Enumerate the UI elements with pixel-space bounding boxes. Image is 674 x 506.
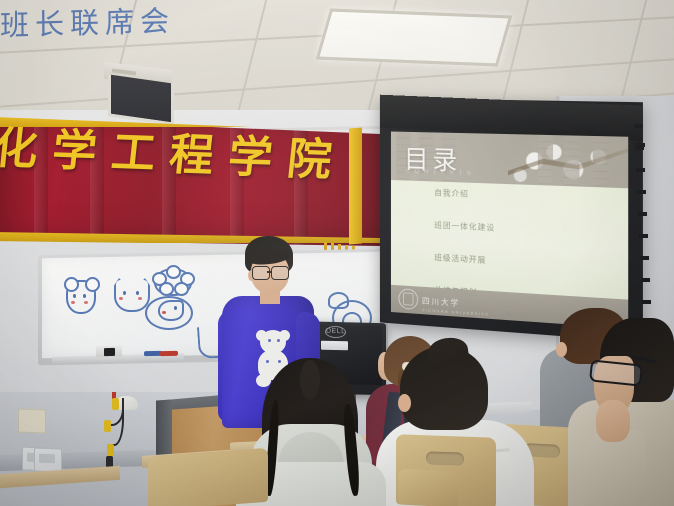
flower-doodle [154,268,192,296]
banner-char: 学 [226,120,279,185]
eraser-pad [104,348,115,356]
chair-handle-slot [426,451,464,465]
wall-outlet-right[interactable] [34,448,62,473]
banner-right-trim [349,128,362,245]
cable-connector [112,398,119,410]
presenter-glasses-left-lens [252,266,270,280]
screen-edge-tab [638,212,647,216]
cable-connector [104,420,111,432]
classroom-photo: 化 学 工 程 学 院 班长联席会 [0,0,674,506]
banner-text: 化 学 工 程 学 院 [0,108,335,192]
hair-part-highlight [300,360,320,400]
snail-head-doodle [328,292,349,309]
outlet-socket [39,454,55,464]
chair-back-left[interactable] [148,448,268,506]
whiteboard-headline: 班长联席会 [0,0,180,37]
student-white-hoodie-ear [398,394,411,412]
screen-edge-tab [641,278,650,282]
dell-logo-icon: DELL [325,326,346,339]
marker-red[interactable] [160,351,178,356]
projected-slide: 目录 CONTENTS 自我介绍 班团一体化建设 班级活动开展 总结与规划 四川… [391,131,628,328]
department-banner: 化 学 工 程 学 院 [0,114,380,248]
bear-doodle [66,280,96,314]
screen-edge-tab [636,168,645,172]
presenter-glasses-right-lens [271,266,289,280]
monitor-sticker [321,341,348,351]
screen-edge-tab [642,300,651,304]
banner-char: 院 [284,123,337,188]
banner-char: 学 [49,114,102,179]
presenter-glasses-bridge [267,271,272,273]
student-glasses-beige-hand [596,400,630,442]
chair-back-front[interactable] [398,468,458,506]
slide-agenda-item: 班团一体化建设 [434,220,582,238]
university-seal-inner [403,292,413,305]
banner-char: 化 [0,112,43,177]
banner-char: 工 [108,116,161,181]
screen-edge-tab [637,190,646,194]
screen-edge-tab [640,256,649,260]
slide-agenda-item: 班级活动开展 [434,252,582,271]
screen-edge-tab [634,124,643,128]
fish-doodle [158,300,184,321]
banner-char: 程 [167,118,220,183]
cable-connector [107,444,114,456]
screen-edge-tab [639,234,648,238]
ceiling-light-panel [316,8,513,66]
screen-edge-tab [635,146,644,150]
student-gray-partial-ear [556,342,567,357]
wall-blank-plate [18,409,46,434]
